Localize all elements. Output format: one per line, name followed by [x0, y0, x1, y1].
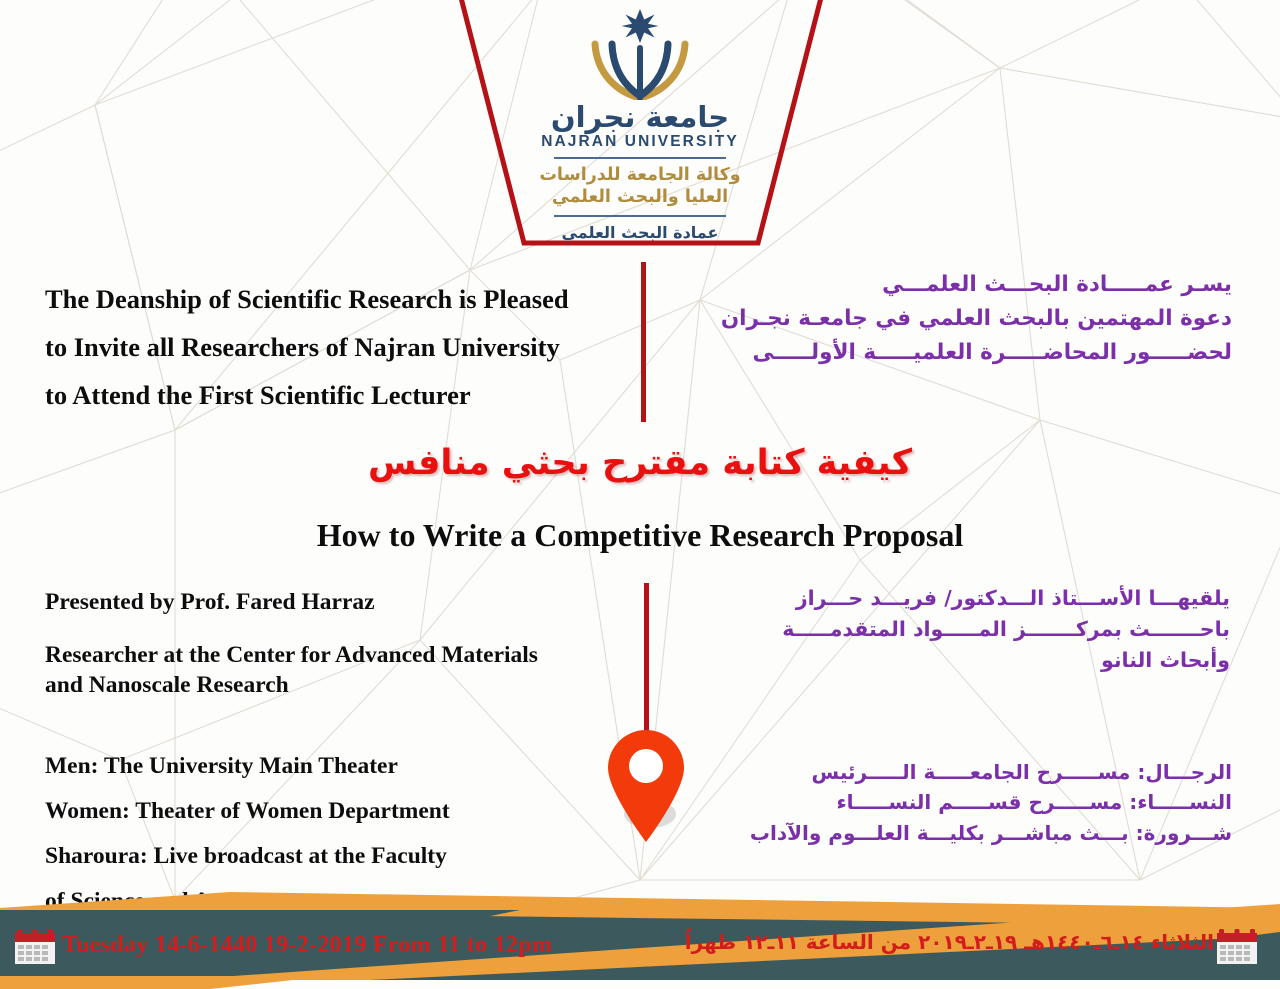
- venue-ar-line2: النســـــاء: مســـــرح قســـــم النســــ…: [702, 787, 1232, 817]
- invitation-english: The Deanship of Scientific Research is P…: [45, 275, 645, 420]
- venue-arabic: الرجـــال: مســـــرح الجامعـــــة الــــ…: [702, 757, 1232, 848]
- venue-ar-line3: شـــرورة: بـــث مباشـــر بكليـــة العلــ…: [702, 818, 1232, 848]
- speaker-english: Presented by Prof. Fared Harraz Research…: [45, 588, 635, 700]
- divider-middle: [644, 583, 649, 743]
- speaker-ar-line1: يلقيهـــا الأســـتاذ الـــدكتور/ فريـــد…: [690, 583, 1230, 614]
- invitation-en-line3: to Attend the First Scientific Lecturer: [45, 371, 645, 419]
- map-pin-icon: [600, 726, 692, 846]
- venue-en-line3: Sharoura: Live broadcast at the Faculty: [45, 834, 605, 879]
- speaker-arabic: يلقيهـــا الأســـتاذ الـــدكتور/ فريـــد…: [690, 583, 1230, 676]
- invitation-arabic: يسـر عمـــــادة البحـــث العلمـــي دعوة …: [672, 268, 1232, 370]
- lecture-title-arabic: كيفية كتابة مقترح بحثي منافس: [0, 443, 1280, 483]
- university-logo: جامعة نجران NAJRAN UNIVERSITY وكالة الجا…: [520, 8, 760, 242]
- invitation-ar-line2: دعوة المهتمين بالبحث العلمي في جامعـة نج…: [672, 302, 1232, 336]
- najran-university-crest-icon: [565, 8, 715, 100]
- venue-en-line1: Men: The University Main Theater: [45, 744, 605, 789]
- speaker-en-line3: and Nanoscale Research: [45, 671, 635, 700]
- invitation-en-line2: to Invite all Researchers of Najran Univ…: [45, 323, 645, 371]
- lecture-title-english: How to Write a Competitive Research Prop…: [0, 517, 1280, 554]
- logo-english-name: NAJRAN UNIVERSITY: [520, 133, 760, 151]
- invitation-ar-line1: يسـر عمـــــادة البحـــث العلمـــي: [672, 268, 1232, 302]
- date-english: Tuesday 14-6-1440 19-2-2019 From 11 to 1…: [62, 932, 552, 959]
- venue-ar-line1: الرجـــال: مســـــرح الجامعـــــة الــــ…: [702, 757, 1232, 787]
- speaker-ar-line2: باحـــــــث بمركـــــــز المـــــواد الم…: [690, 614, 1230, 645]
- logo-subtitle: عمادة البحث العلمي: [520, 223, 760, 242]
- venue-en-line2: Women: Theater of Women Department: [45, 789, 605, 834]
- speaker-ar-line3: وأبحاث النانو: [690, 645, 1230, 676]
- logo-divider-bottom: [554, 215, 726, 217]
- invitation-en-line1: The Deanship of Scientific Research is P…: [45, 275, 645, 323]
- calendar-icon-right: [1216, 928, 1258, 966]
- speaker-en-line1: Presented by Prof. Fared Harraz: [45, 588, 635, 617]
- date-arabic: الثلاثاء ١٤ـ٦ـ١٤٤٠هـ ١٩ـ٢ـ٢٠١٩ من الساعة…: [685, 930, 1214, 954]
- invitation-ar-line3: لحضـــــور المحاضـــــرة العلميـــــة ال…: [672, 336, 1232, 370]
- logo-arabic-name: جامعة نجران: [520, 102, 760, 132]
- logo-department-line2: العليا والبحث العلمي: [520, 187, 760, 209]
- speaker-en-line2: Researcher at the Center for Advanced Ma…: [45, 641, 635, 670]
- logo-divider-top: [554, 157, 726, 159]
- poster-canvas: جامعة نجران NAJRAN UNIVERSITY وكالة الجا…: [0, 0, 1280, 989]
- calendar-icon-left: [14, 928, 56, 966]
- logo-department-line1: وكالة الجامعة للدراسات: [520, 165, 760, 187]
